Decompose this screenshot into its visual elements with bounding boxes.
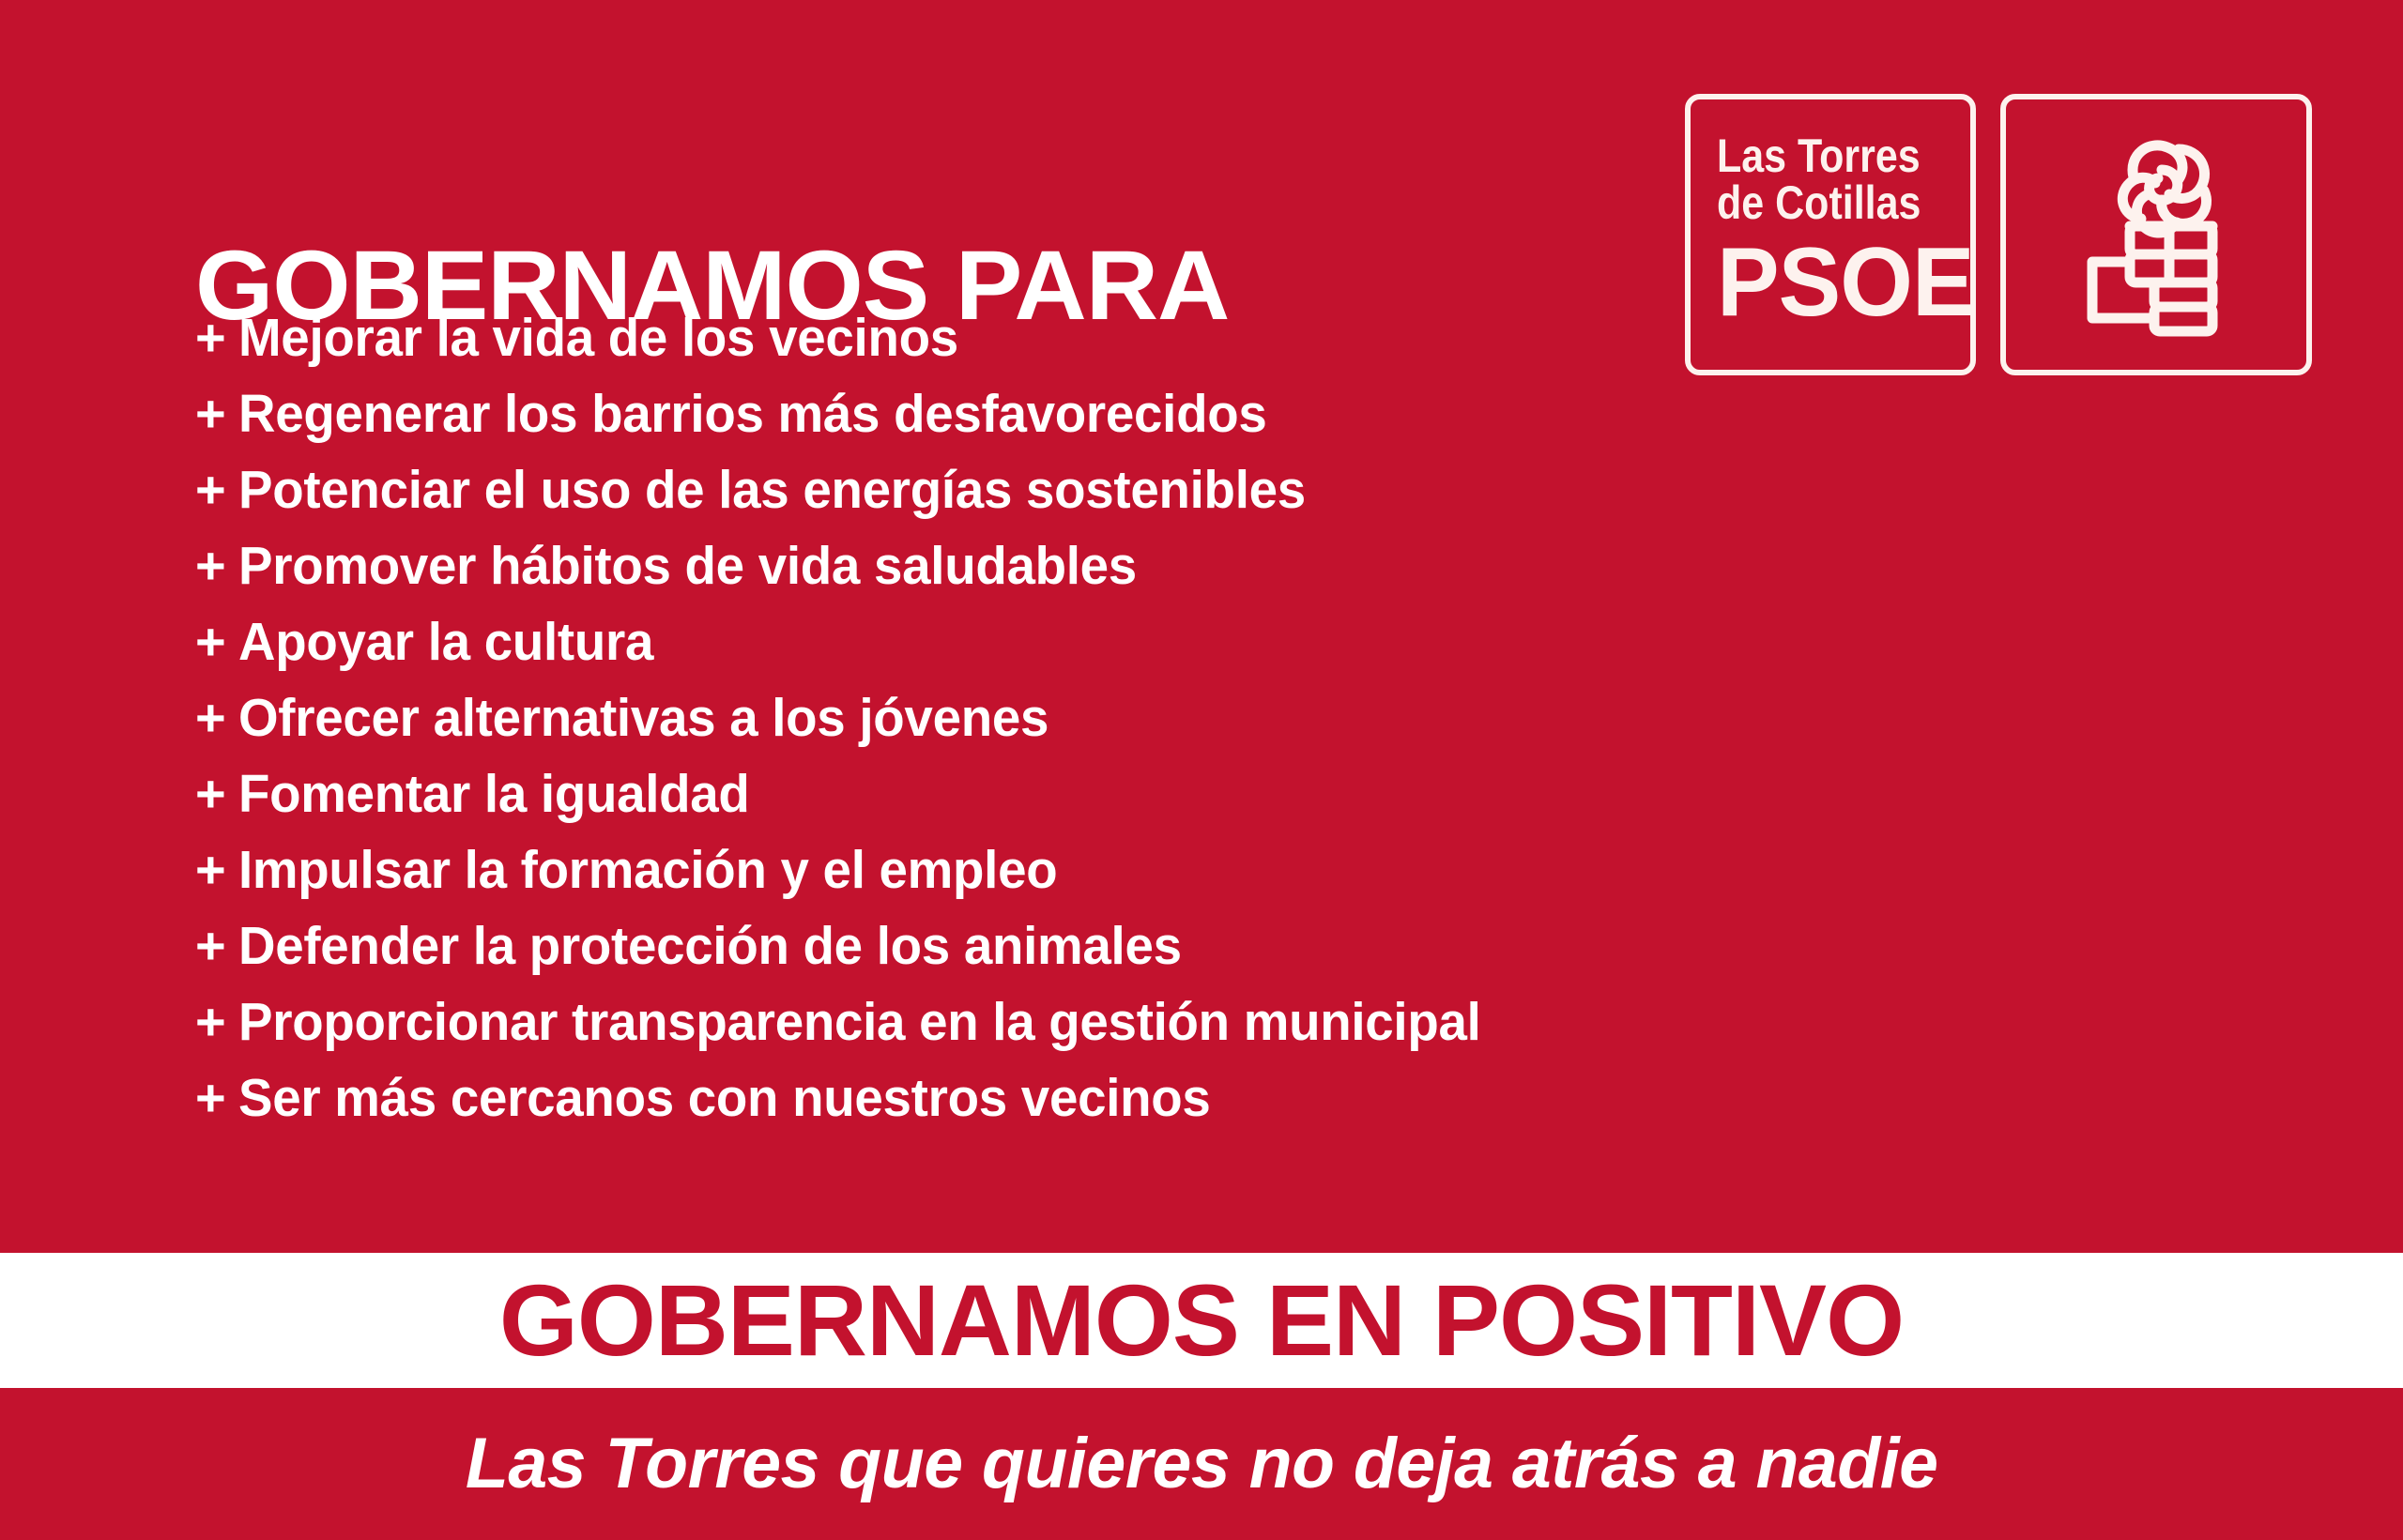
list-item-label: Proporcionar transparencia en la gestión…: [238, 996, 1481, 1049]
logo-party-name: PSOE: [1717, 234, 1960, 331]
plus-icon: +: [195, 388, 238, 440]
list-item-label: Ofrecer alternativas a los jóvenes: [238, 692, 1048, 745]
plus-icon: +: [195, 768, 238, 820]
list-item-label: Impulsar la formación y el empleo: [238, 844, 1057, 897]
tagline-area: Las Torres que quieres no deja atrás a n…: [0, 1388, 2403, 1540]
list-item-label: Defender la protección de los animales: [238, 920, 1182, 973]
slogan-text: GOBERNAMOS EN POSITIVO: [499, 1270, 1904, 1371]
plus-icon: +: [195, 464, 238, 516]
party-logo-lockup: Las Torres de Cotillas PSOE: [1685, 94, 2312, 375]
list-item: + Proporcionar transparencia en la gesti…: [195, 996, 2073, 1072]
plus-icon: +: [195, 920, 238, 972]
plus-icon: +: [195, 996, 238, 1048]
list-item-label: Promover hábitos de vida saludables: [238, 540, 1137, 593]
plus-icon: +: [195, 540, 238, 592]
logo-town-line-2: de Cotillas: [1717, 180, 1935, 227]
list-item: + Potenciar el uso de las energías soste…: [195, 464, 2073, 540]
plus-icon: +: [195, 312, 238, 364]
tagline-text: Las Torres que quieres no deja atrás a n…: [466, 1428, 1938, 1500]
plus-icon: +: [195, 844, 238, 896]
list-item: + Defender la protección de los animales: [195, 920, 2073, 996]
promises-list: + Mejorar la vida de los vecinos + Regen…: [195, 312, 2073, 1148]
plus-icon: +: [195, 616, 238, 668]
list-item-label: Fomentar la igualdad: [238, 768, 750, 821]
plus-icon: +: [195, 1072, 238, 1124]
list-item: + Promover hábitos de vida saludables: [195, 540, 2073, 616]
list-item: + Regenerar los barrios más desfavorecid…: [195, 388, 2073, 464]
list-item: + Impulsar la formación y el empleo: [195, 844, 2073, 920]
list-item: + Ser más cercanos con nuestros vecinos: [195, 1072, 2073, 1148]
logo-town-line-1: Las Torres: [1717, 133, 1935, 180]
slogan-band: GOBERNAMOS EN POSITIVO: [0, 1253, 2403, 1388]
list-item: + Fomentar la igualdad: [195, 768, 2073, 844]
list-item-label: Regenerar los barrios más desfavorecidos: [238, 388, 1267, 441]
list-item-label: Potenciar el uso de las energías sosteni…: [238, 464, 1306, 517]
list-item-label: Apoyar la cultura: [238, 616, 653, 669]
campaign-poster: GOBERNAMOS PARA + Mejorar la vida de los…: [0, 0, 2403, 1540]
list-item-label: Ser más cercanos con nuestros vecinos: [238, 1072, 1211, 1125]
psoe-fist-and-rose-icon: [2072, 125, 2241, 345]
list-item-label: Mejorar la vida de los vecinos: [238, 312, 958, 365]
list-item: + Ofrecer alternativas a los jóvenes: [195, 692, 2073, 768]
logo-emblem-box: [2000, 94, 2312, 375]
logo-wordmark-box: Las Torres de Cotillas PSOE: [1685, 94, 1976, 375]
plus-icon: +: [195, 692, 238, 744]
list-item: + Apoyar la cultura: [195, 616, 2073, 692]
